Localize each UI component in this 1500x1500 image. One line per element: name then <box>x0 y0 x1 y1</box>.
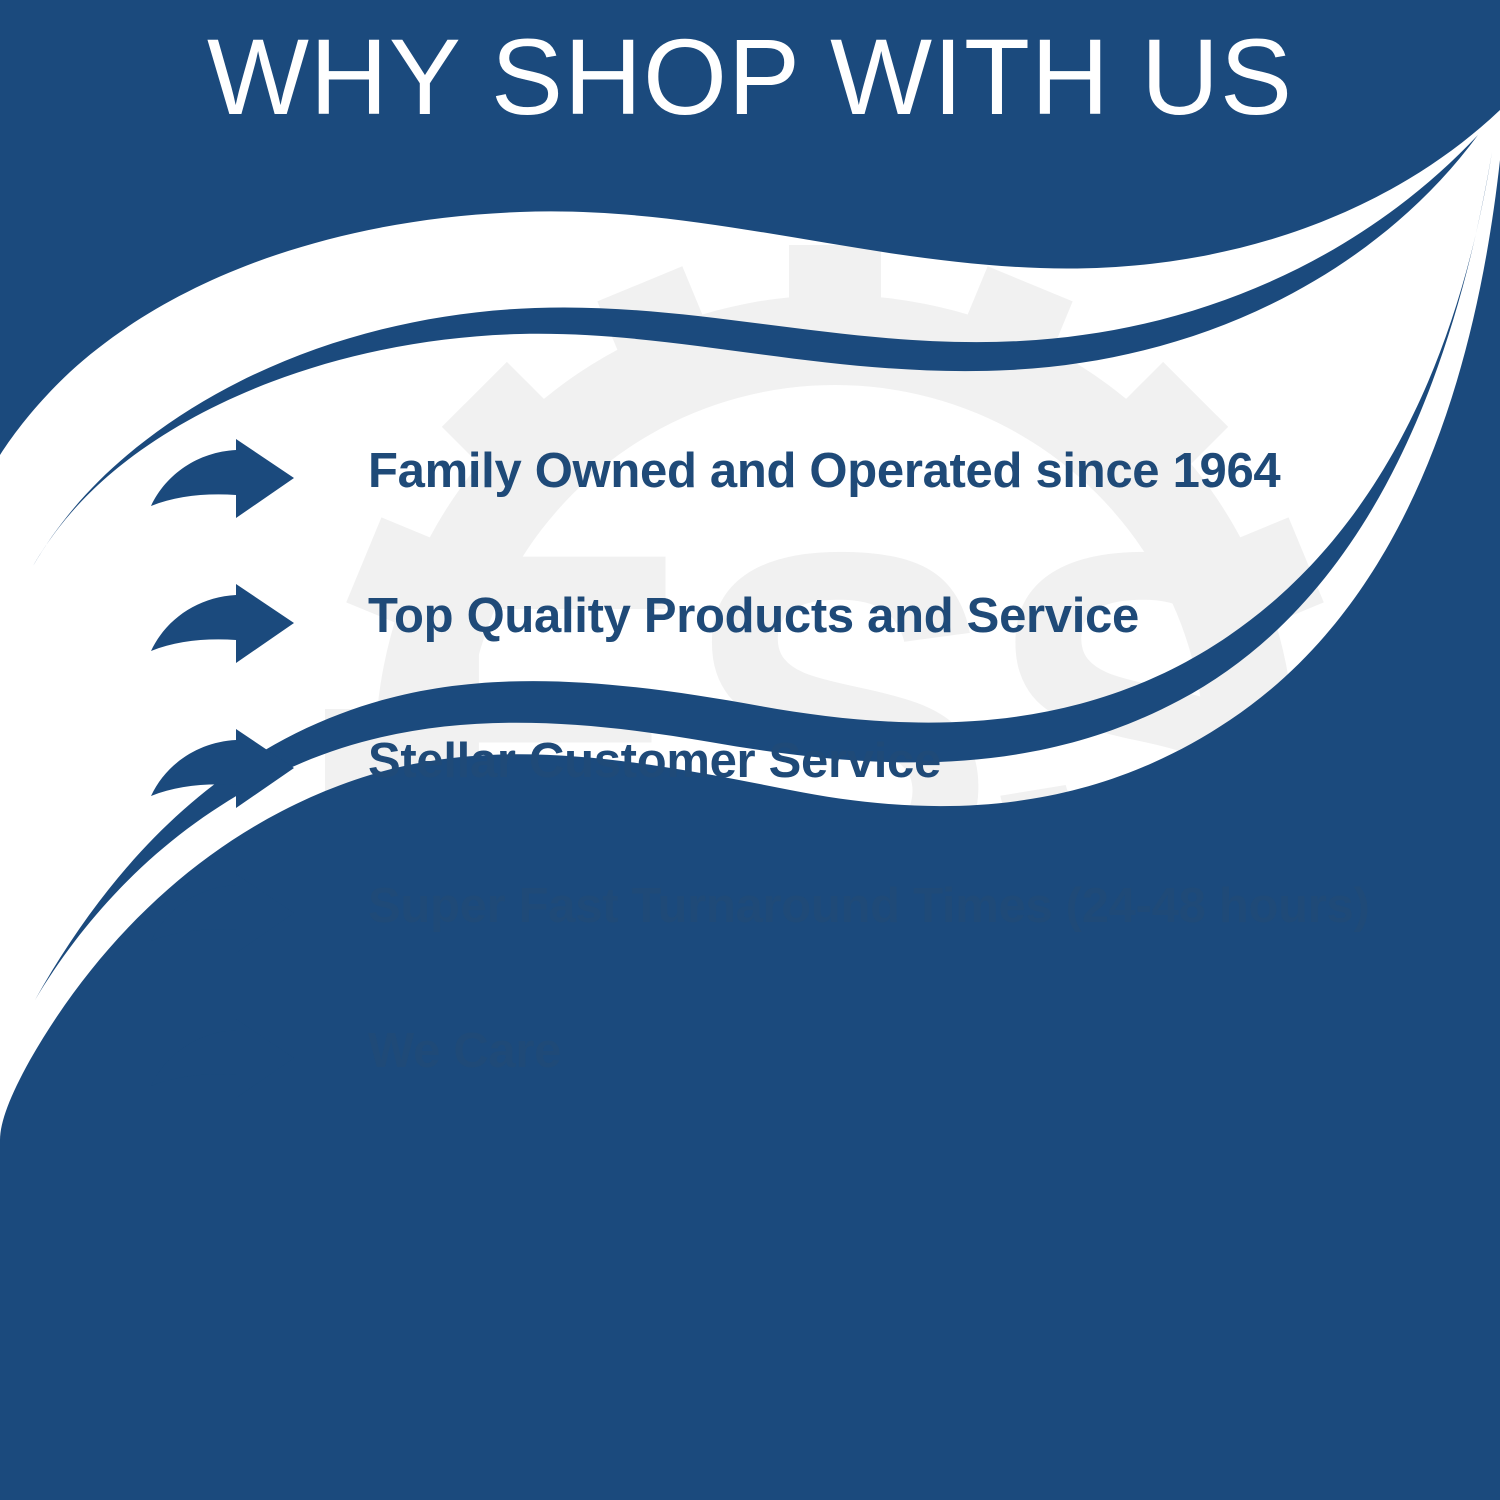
curved-arrow-right-icon <box>150 873 300 955</box>
list-item: Super Fast Turnaround Times (24-48 hours… <box>150 865 1450 1010</box>
list-item: We Care <box>150 1010 1450 1155</box>
page-title: WHY SHOP WITH US <box>0 18 1500 137</box>
promo-graphic: ESS WHY SHOP WITH US Family Owned and Op… <box>0 0 1500 1500</box>
list-item-label: Stellar Customer Service <box>368 720 941 802</box>
list-item-label: Top Quality Products and Service <box>368 575 1139 657</box>
curved-arrow-right-icon <box>150 728 300 810</box>
list-item: Top Quality Products and Service <box>150 575 1450 720</box>
list-item-label: We Care <box>368 1010 561 1092</box>
list-item-label: Family Owned and Operated since 1964 <box>368 430 1280 512</box>
benefits-list: Family Owned and Operated since 1964 Top… <box>150 430 1450 1155</box>
list-item: Family Owned and Operated since 1964 <box>150 430 1450 575</box>
curved-arrow-right-icon <box>150 1018 300 1100</box>
curved-arrow-right-icon <box>150 583 300 665</box>
curved-arrow-right-icon <box>150 438 300 520</box>
list-item: Stellar Customer Service <box>150 720 1450 865</box>
list-item-label: Super Fast Turnaround Times (24-48 hours… <box>368 865 1369 947</box>
